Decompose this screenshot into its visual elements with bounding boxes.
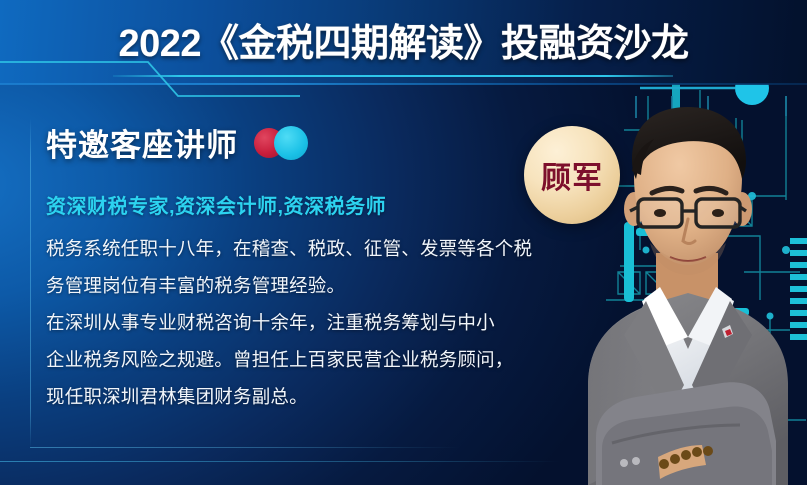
- bottom-accent-line: [0, 461, 560, 462]
- credentials-subtitle: 资深财税专家,资深会计师,资深税务师: [46, 190, 386, 219]
- poster-canvas: 2022《金税四期解读》投融资沙龙 特邀客座讲师 资深财税专家,资深会计师,资深…: [0, 0, 807, 485]
- bio-line: 企业税务风险之规避。曾担任上百家民营企业税务顾问，: [46, 341, 576, 378]
- lecturer-heading: 特邀客座讲师: [46, 120, 238, 165]
- speaker-portrait: [572, 85, 807, 485]
- bio-line: 现任职深圳君林集团财务副总。: [46, 378, 576, 415]
- dual-circle-icon: [254, 125, 316, 161]
- bio-line: 务管理岗位有丰富的税务管理经验。: [46, 267, 576, 304]
- bio-line: 在深圳从事专业财税咨询十余年，注重税务筹划与中小: [46, 304, 576, 341]
- bio-line: 税务系统任职十八年，在稽查、税政、征管、发票等各个税: [46, 230, 576, 267]
- cyan-circle-icon: [274, 126, 308, 160]
- bottom-frame-line: [30, 447, 460, 448]
- chamfer-decoration-icon: [0, 52, 300, 100]
- biography-text: 税务系统任职十八年，在稽查、税政、征管、发票等各个税 务管理岗位有丰富的税务管理…: [46, 230, 576, 415]
- lecturer-heading-row: 特邀客座讲师: [46, 120, 316, 165]
- left-frame-line: [30, 118, 31, 448]
